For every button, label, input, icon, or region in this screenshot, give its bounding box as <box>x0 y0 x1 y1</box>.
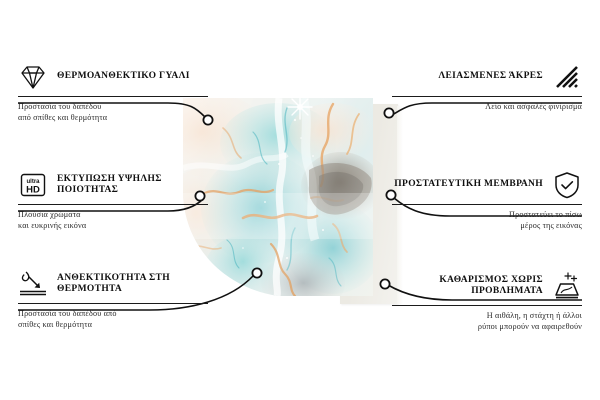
ultra-hd-icon: ultra HD <box>18 170 48 200</box>
feature-title: ΘΕΡΜΟΑΝΘΕΚΤΙΚΟ ΓΥΑΛΙ <box>57 71 190 83</box>
infographic-stage: ΘΕΡΜΟΑΝΘΕΚΤΙΚΟ ΓΥΑΛΙ Προστασία του δαπέδ… <box>0 0 600 400</box>
shield-check-icon <box>552 170 582 200</box>
feature-desc-line2: ρύποι μπορούν να αφαιρεθούν <box>392 322 582 333</box>
feature-desc-line1: Η αιθάλη, η στάχτη ή άλλοι <box>392 311 582 322</box>
sponge-sparkle-icon <box>552 271 582 301</box>
feature-title: ΛΕΙΑΣΜΕΝΕΣ ΆΚΡΕΣ <box>438 71 543 83</box>
feature-head: ΘΕΡΜΟΑΝΘΕΚΤΙΚΟ ΓΥΑΛΙ <box>18 62 208 92</box>
feature-desc-line2: μέρος της εικόνας <box>392 221 582 232</box>
feature-title: ΚΑΘΑΡΙΣΜΟΣ ΧΩΡΙΣ ΠΡΟΒΛΗΜΑΤΑ <box>392 275 543 298</box>
feature-head: ΑΝΘΕΚΤΙΚΟΤΗΤΑ ΣΤΗ ΘΕΡΜΟΤΗΤΑ <box>18 269 208 299</box>
product-image <box>183 98 398 313</box>
feature-divider <box>18 303 208 304</box>
marble-artwork <box>183 98 373 296</box>
feature-divider <box>18 204 208 205</box>
hd-label: HD <box>26 185 40 196</box>
feature-title: ΠΡΟΣΤΑΤΕΥΤΙΚΗ ΜΕΜΒΡΑΝΗ <box>394 179 543 191</box>
feature-head: ultra HD ΕΚΤΥΠΩΣΗ ΥΨΗΛΗΣ ΠΟΙΟΤΗΤΑΣ <box>18 170 208 200</box>
feature-title: ΕΚΤΥΠΩΣΗ ΥΨΗΛΗΣ ΠΟΙΟΤΗΤΑΣ <box>57 174 208 197</box>
feature-desc-line1: Προστασία του δαπέδου <box>18 102 208 113</box>
feature-smooth-edges: ΛΕΙΑΣΜΕΝΕΣ ΆΚΡΕΣ Λείο και ασφαλές φινίρι… <box>392 62 582 113</box>
feature-desc-line2: από σπίθες και θερμότητα <box>18 113 208 124</box>
feature-desc-line1: Προστατεύει το πίσω <box>392 210 582 221</box>
feature-heat-resistant-glass: ΘΕΡΜΟΑΝΘΕΚΤΙΚΟ ΓΥΑΛΙ Προστασία του δαπέδ… <box>18 62 208 123</box>
feature-divider <box>392 305 582 306</box>
feature-divider <box>392 204 582 205</box>
feature-head: ΛΕΙΑΣΜΕΝΕΣ ΆΚΡΕΣ <box>392 62 582 92</box>
smooth-edges-icon <box>552 62 582 92</box>
diamond-icon <box>18 62 48 92</box>
flame-deflect-icon <box>18 269 48 299</box>
feature-divider <box>392 96 582 97</box>
glass-splashback-front <box>183 98 373 296</box>
feature-title: ΑΝΘΕΚΤΙΚΟΤΗΤΑ ΣΤΗ ΘΕΡΜΟΤΗΤΑ <box>57 273 208 296</box>
feature-protective-membrane: ΠΡΟΣΤΑΤΕΥΤΙΚΗ ΜΕΜΒΡΑΝΗ Προστατεύει το πί… <box>392 170 582 231</box>
feature-head: ΚΑΘΑΡΙΣΜΟΣ ΧΩΡΙΣ ΠΡΟΒΛΗΜΑΤΑ <box>392 271 582 301</box>
feature-heat-durability: ΑΝΘΕΚΤΙΚΟΤΗΤΑ ΣΤΗ ΘΕΡΜΟΤΗΤΑ Προστασία το… <box>18 269 208 330</box>
feature-head: ΠΡΟΣΤΑΤΕΥΤΙΚΗ ΜΕΜΒΡΑΝΗ <box>392 170 582 200</box>
feature-desc-line2: και ευκρινής εικόνα <box>18 221 208 232</box>
feature-desc-line2: σπίθες και θερμότητα <box>18 320 208 331</box>
feature-divider <box>18 96 208 97</box>
feature-desc-line1: Προστασία του δαπέδου από <box>18 309 208 320</box>
feature-desc-line1: Πλούσια χρώματα <box>18 210 208 221</box>
feature-easy-cleaning: ΚΑΘΑΡΙΣΜΟΣ ΧΩΡΙΣ ΠΡΟΒΛΗΜΑΤΑ Η αιθάλη, η … <box>392 271 582 332</box>
feature-high-quality-print: ultra HD ΕΚΤΥΠΩΣΗ ΥΨΗΛΗΣ ΠΟΙΟΤΗΤΑΣ Πλούσ… <box>18 170 208 231</box>
feature-desc-line1: Λείο και ασφαλές φινίρισμα <box>392 102 582 113</box>
